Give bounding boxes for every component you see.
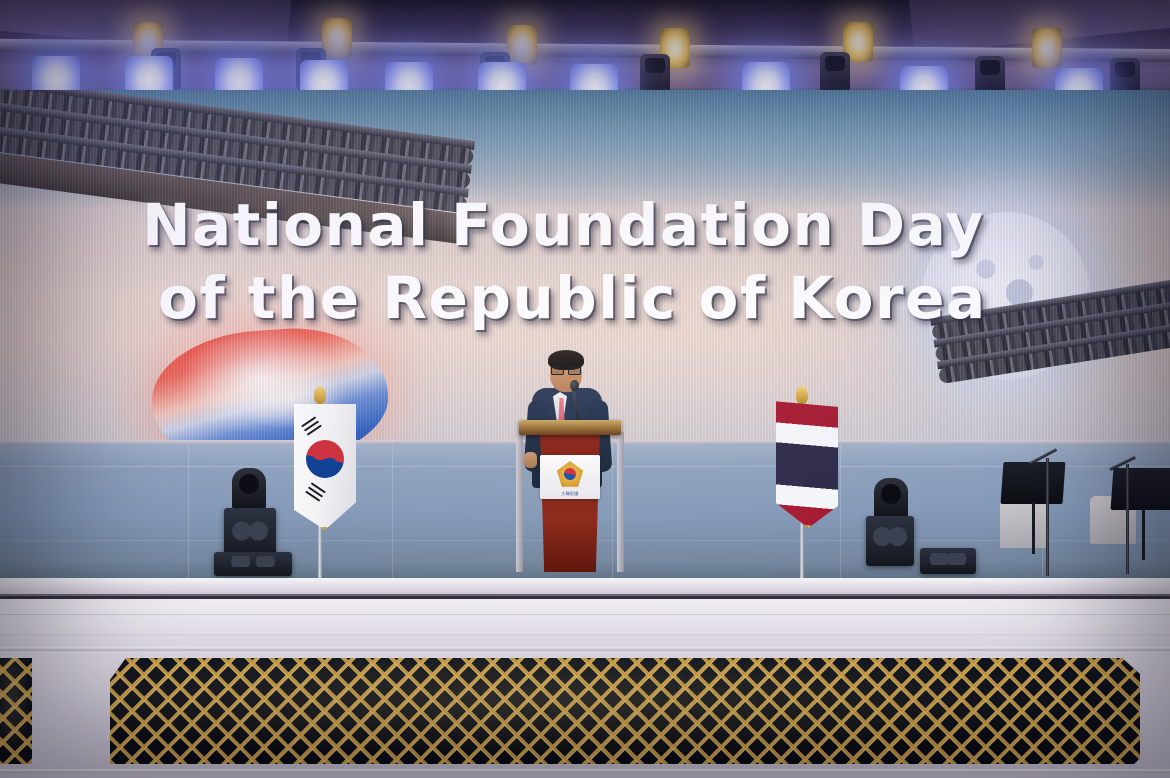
music-stand-leg: [1032, 502, 1035, 554]
microphone-stand: [1046, 458, 1049, 576]
stage-monitor-right-lower: [920, 548, 976, 574]
flag-finial-thailand: [796, 386, 808, 404]
podium-side-right: [617, 432, 624, 572]
music-stand-leg: [1142, 508, 1145, 560]
korean-government-emblem: [556, 461, 584, 489]
stage-monitor-left-lower: [214, 552, 292, 576]
glasses-icon: [551, 366, 581, 373]
microphone-stand: [1126, 464, 1129, 574]
trigram-geon: [301, 416, 322, 435]
podium-side-left: [516, 432, 523, 572]
trigram-gam: [305, 482, 326, 501]
taegeuk-symbol: [299, 433, 350, 484]
music-stand: [1111, 468, 1170, 510]
podium-emblem-label: 大韓民國: [540, 491, 600, 497]
front-panel-rail-bottom: [0, 769, 1170, 773]
spotlight-icon: [322, 18, 352, 58]
flag-finial-korea: [314, 386, 326, 404]
podium-top-ledge: [519, 420, 621, 435]
speaker-hand: [524, 452, 537, 468]
lattice-grille-panel: [110, 658, 1140, 764]
lattice-grille-edge: [0, 658, 32, 764]
spotlight-icon: [1032, 28, 1062, 68]
front-panel-rail-top: [0, 647, 1170, 651]
moving-head-light-left: [232, 468, 266, 510]
spotlight-icon: [507, 25, 537, 65]
podium-microphone-head: [570, 380, 579, 391]
podium-emblem-plate: 大韓民國: [540, 455, 600, 499]
stage-monitor-right: [866, 516, 914, 566]
ballroom-stage-scene: National Foundation Day of the Republic …: [0, 0, 1170, 778]
moving-head-light-right: [874, 478, 908, 520]
orchestra-chair: [1000, 500, 1046, 548]
stage-apron: [0, 599, 1170, 651]
music-stand: [1001, 462, 1066, 504]
podium: [536, 430, 604, 572]
